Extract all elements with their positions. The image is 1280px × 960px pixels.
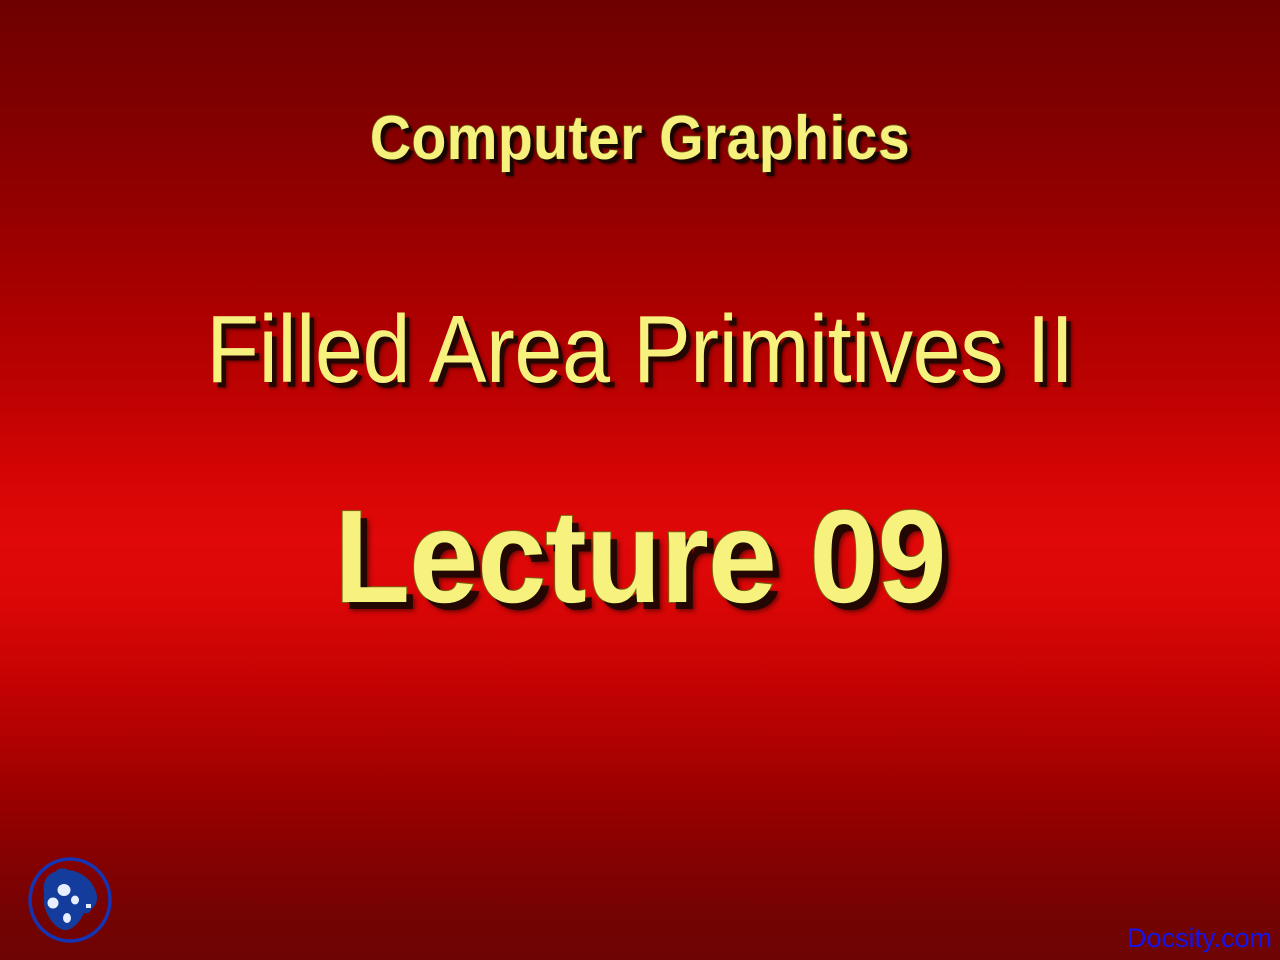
lecture-number: Lecture 09 (38, 488, 1241, 627)
page-title: Computer Graphics (51, 108, 1229, 170)
watermark-text: Docsity.com (1127, 923, 1272, 954)
logo-dot-icon (86, 904, 91, 908)
logo-dot-icon (71, 896, 79, 905)
logo-icon (22, 852, 118, 948)
logo-dot-icon (63, 913, 71, 923)
presentation-slide: Computer Graphics Filled Area Primitives… (0, 0, 1280, 960)
logo-dot-icon (58, 884, 71, 896)
slide-subtitle: Filled Area Primitives II (64, 300, 1216, 401)
docsity-logo (22, 852, 118, 948)
logo-dot-icon (48, 898, 59, 909)
